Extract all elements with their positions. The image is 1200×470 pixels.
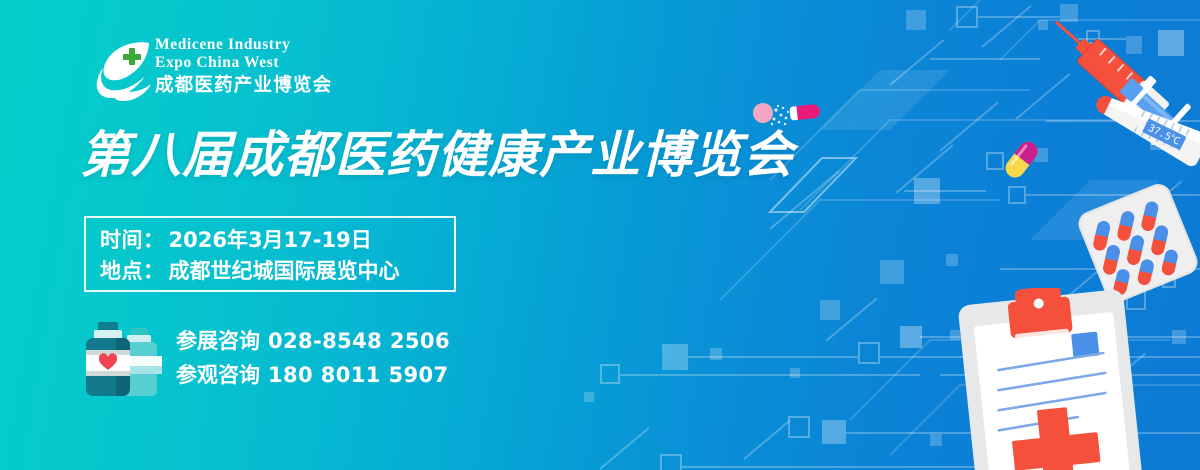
event-venue-label: 地点： (100, 259, 165, 283)
exhibitor-contact-row: 参展咨询028-8548 2506 (176, 324, 450, 358)
pill-blister-pack-icon (1072, 182, 1200, 304)
circuit-shards (700, 0, 1200, 470)
medicine-bottles-icon (80, 320, 172, 400)
visitor-contact-label: 参观咨询 (176, 363, 260, 387)
logo-chinese: 成都医药产业博览会 (155, 74, 345, 97)
contact-block: 参展咨询028-8548 2506 参观咨询180 8011 5907 (80, 318, 500, 400)
event-date-value: 2026年3月17-19日 (169, 228, 372, 252)
leaf-ribbon-medical-cross-logo-icon (95, 38, 157, 104)
capsule-yellow-magenta-icon (1000, 136, 1044, 184)
visitor-contact-row: 参观咨询180 8011 5907 (176, 358, 450, 392)
logo-english-line1: Medicene Industry (155, 36, 345, 54)
syringe-icon (1028, 10, 1200, 145)
event-info-box: 时间：2026年3月17-19日 地点：成都世纪城国际展览中心 (84, 216, 456, 292)
logo-text-block: Medicene Industry Expo China West 成都医药产业… (155, 36, 345, 97)
thermometer-reading: 37.5℃ (1146, 123, 1181, 148)
clipboard-medical-report-icon (948, 288, 1200, 470)
expo-logo: Medicene Industry Expo China West 成都医药产业… (95, 36, 345, 108)
exhibitor-contact-label: 参展咨询 (176, 329, 260, 353)
contact-lines: 参展咨询028-8548 2506 参观咨询180 8011 5907 (176, 324, 450, 392)
event-date-row: 时间：2026年3月17-19日 (100, 225, 440, 256)
expo-banner: Medicene Industry Expo China West 成都医药产业… (0, 0, 1200, 470)
page-title: 第八届成都医药健康产业博览会 (80, 126, 794, 184)
event-venue-row: 地点：成都世纪城国际展览中心 (100, 256, 440, 287)
thermometer-icon: 37.5℃ (1070, 92, 1200, 188)
visitor-contact-number[interactable]: 180 8011 5907 (268, 363, 449, 387)
logo-english-line2: Expo China West (155, 54, 345, 72)
exhibitor-contact-number[interactable]: 028-8548 2506 (268, 329, 450, 353)
event-venue-value: 成都世纪城国际展览中心 (169, 259, 400, 283)
event-date-label: 时间： (100, 228, 165, 252)
